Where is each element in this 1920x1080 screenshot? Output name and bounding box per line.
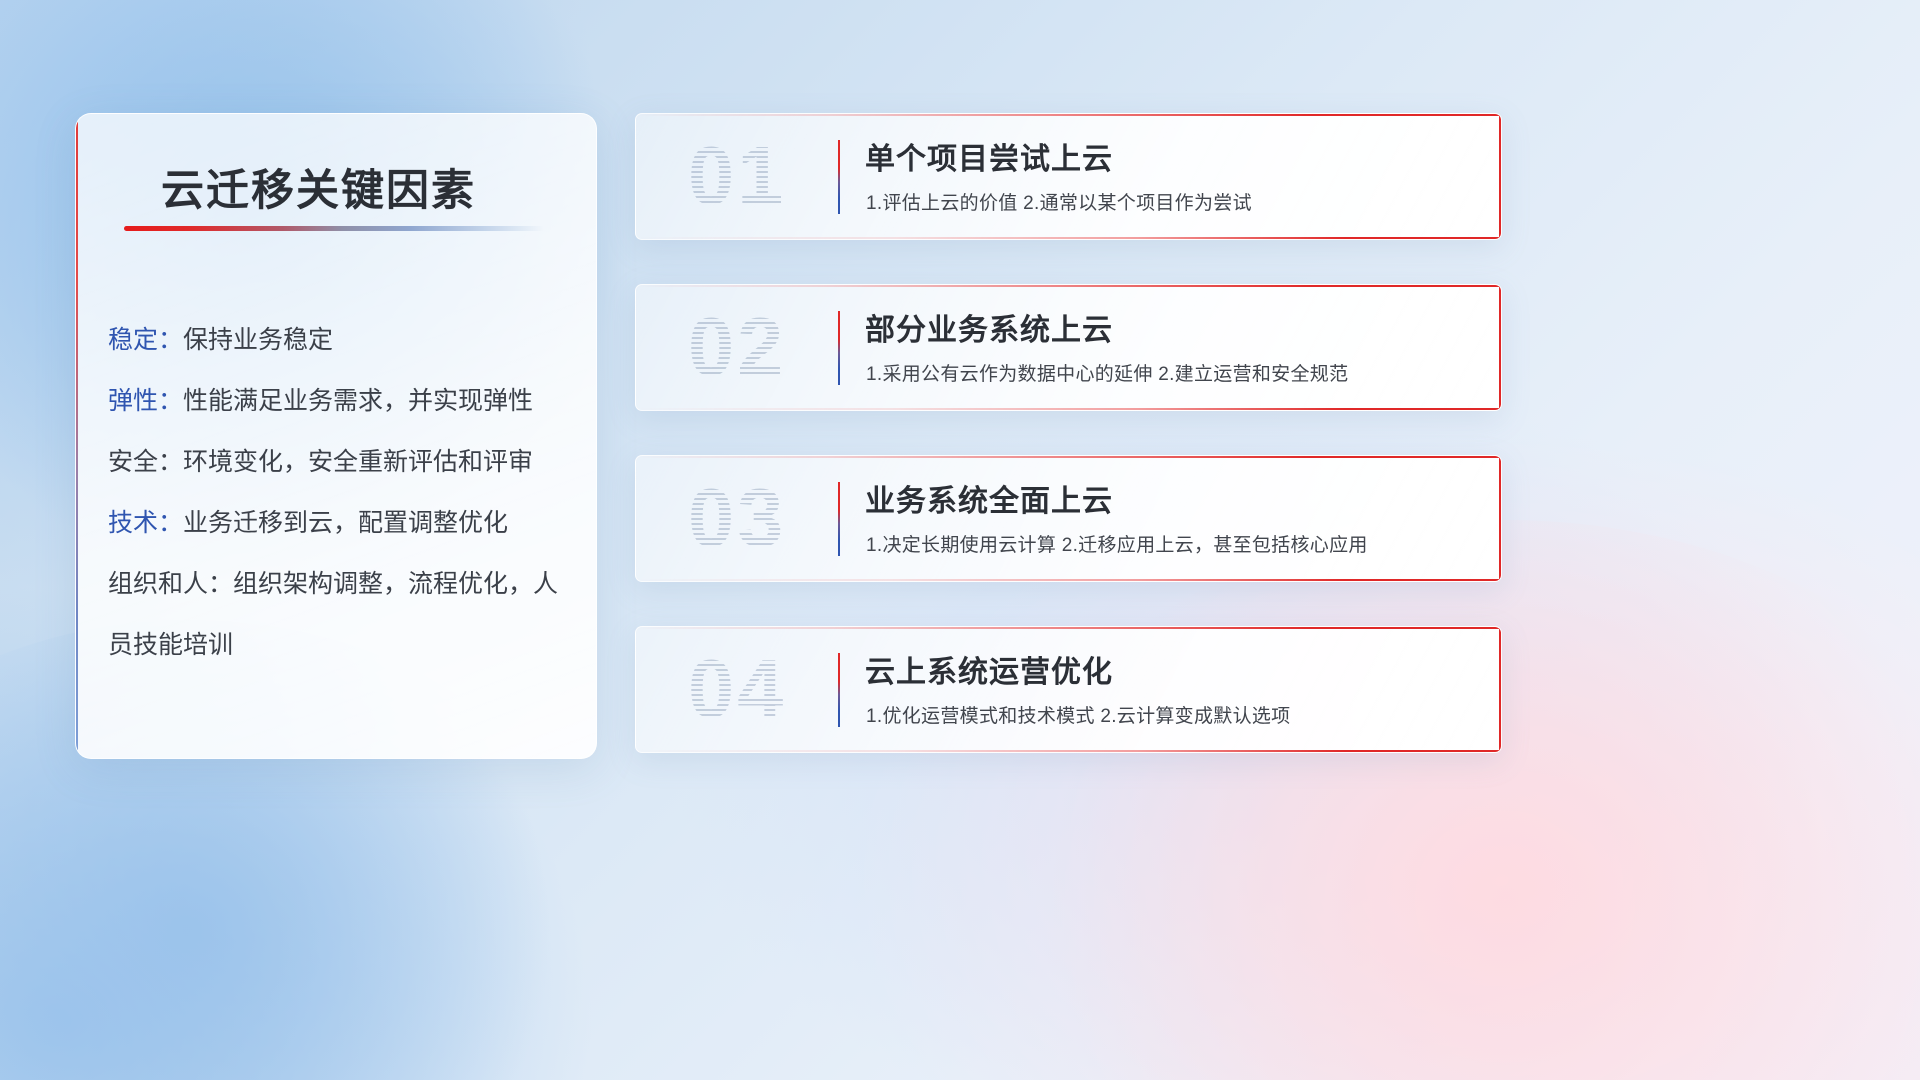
stage-description: 1.评估上云的价值 2.通常以某个项目作为尝试 bbox=[866, 188, 1252, 215]
slide-root: 云迁移关键因素 稳定：保持业务稳定 弹性：性能满足业务需求，并实现弹性 安全：环… bbox=[0, 0, 1920, 1080]
list-item-text: 性能满足业务需求，并实现弹性 bbox=[183, 387, 533, 415]
list-item-label: 技术： bbox=[108, 509, 183, 537]
list-item-text: 保持业务稳定 bbox=[183, 326, 333, 354]
stage-number: 04 bbox=[688, 639, 828, 739]
list-item-label: 稳定： bbox=[108, 326, 183, 354]
stage-title: 部分业务系统上云 bbox=[865, 305, 1113, 349]
stage-description: 1.决定长期使用云计算 2.迁移应用上云，甚至包括核心应用 bbox=[866, 530, 1368, 557]
stage-card[interactable]: 04 云上系统运营优化 1.优化运营模式和技术模式 2.云计算变成默认选项 bbox=[635, 626, 1502, 753]
page-title: 云迁移关键因素 bbox=[161, 156, 581, 218]
card-divider-bar bbox=[838, 653, 840, 727]
card-divider-bar bbox=[838, 311, 840, 385]
stage-card[interactable]: 03 业务系统全面上云 1.决定长期使用云计算 2.迁移应用上云，甚至包括核心应… bbox=[635, 455, 1502, 582]
list-item-label: 安全： bbox=[108, 448, 183, 476]
stage-number: 01 bbox=[688, 126, 828, 226]
stage-title: 单个项目尝试上云 bbox=[865, 134, 1113, 178]
list-item: 弹性：性能满足业务需求，并实现弹性 bbox=[108, 371, 578, 432]
list-item: 稳定：保持业务稳定 bbox=[108, 310, 578, 371]
stage-number: 02 bbox=[688, 297, 828, 397]
card-accent-edge bbox=[1499, 114, 1501, 239]
list-item-text: 业务迁移到云，配置调整优化 bbox=[183, 509, 508, 537]
stage-title: 云上系统运营优化 bbox=[865, 647, 1113, 691]
list-item: 安全：环境变化，安全重新评估和评审 bbox=[108, 432, 578, 493]
card-accent-edge bbox=[1499, 627, 1501, 752]
stage-title: 业务系统全面上云 bbox=[865, 476, 1113, 520]
card-accent-edge bbox=[1499, 456, 1501, 581]
stage-card[interactable]: 02 部分业务系统上云 1.采用公有云作为数据中心的延伸 2.建立运营和安全规范 bbox=[635, 284, 1502, 411]
list-item-label: 组织和人： bbox=[108, 570, 233, 598]
title-underline-gradient bbox=[124, 226, 544, 231]
stage-card[interactable]: 01 单个项目尝试上云 1.评估上云的价值 2.通常以某个项目作为尝试 bbox=[635, 113, 1502, 240]
panel-accent-edge bbox=[76, 114, 78, 758]
stage-description: 1.采用公有云作为数据中心的延伸 2.建立运营和安全规范 bbox=[866, 359, 1348, 386]
card-divider-bar bbox=[838, 482, 840, 556]
stage-number: 03 bbox=[688, 468, 828, 568]
list-item: 技术：业务迁移到云，配置调整优化 bbox=[108, 493, 578, 554]
key-factors-list: 稳定：保持业务稳定 弹性：性能满足业务需求，并实现弹性 安全：环境变化，安全重新… bbox=[108, 310, 578, 676]
list-item-text: 环境变化，安全重新评估和评审 bbox=[183, 448, 533, 476]
stage-description: 1.优化运营模式和技术模式 2.云计算变成默认选项 bbox=[866, 701, 1290, 728]
key-factors-panel: 云迁移关键因素 稳定：保持业务稳定 弹性：性能满足业务需求，并实现弹性 安全：环… bbox=[75, 113, 597, 759]
list-item-label: 弹性： bbox=[108, 387, 183, 415]
stage-card-list: 01 单个项目尝试上云 1.评估上云的价值 2.通常以某个项目作为尝试 02 部… bbox=[635, 113, 1500, 797]
list-item: 组织和人：组织架构调整，流程优化，人员技能培训 bbox=[108, 554, 578, 676]
card-accent-edge bbox=[1499, 285, 1501, 410]
card-divider-bar bbox=[838, 140, 840, 214]
